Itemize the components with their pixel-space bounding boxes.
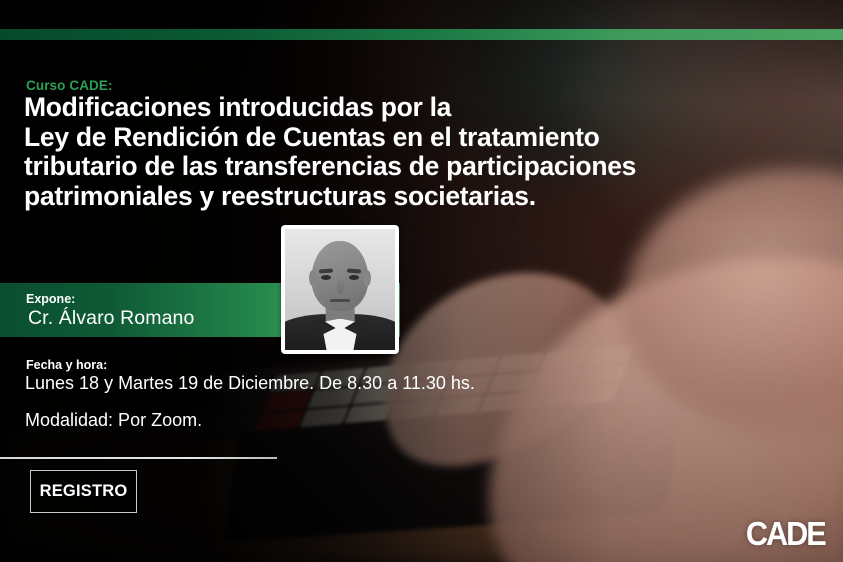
headline: Modificaciones introducidas por la Ley d… bbox=[24, 93, 724, 211]
portrait-image bbox=[285, 229, 395, 350]
top-accent-rule bbox=[0, 29, 843, 40]
speaker-portrait-photo bbox=[281, 225, 399, 354]
eyebrow-label: Curso CADE: bbox=[26, 78, 113, 93]
speaker-name: Cr. Álvaro Romano bbox=[28, 307, 194, 330]
portrait-ear-left bbox=[309, 270, 317, 286]
cade-logo-text: CADE bbox=[746, 517, 825, 550]
headline-line-3: tributario de las transferencias de part… bbox=[24, 152, 724, 182]
headline-line-4: patrimoniales y reestructuras societaria… bbox=[24, 182, 724, 212]
modality-text: Modalidad: Por Zoom. bbox=[25, 410, 202, 431]
portrait-eye-right bbox=[349, 275, 359, 280]
registro-button[interactable]: REGISTRO bbox=[30, 470, 137, 513]
headline-line-2: Ley de Rendición de Cuentas en el tratam… bbox=[24, 123, 724, 153]
speaker-label: Expone: bbox=[26, 292, 75, 306]
portrait-ear-right bbox=[363, 270, 371, 286]
schedule-label: Fecha y hora: bbox=[26, 358, 107, 372]
headline-line-1: Modificaciones introducidas por la bbox=[24, 93, 724, 123]
cta-divider-line bbox=[0, 457, 277, 459]
portrait-mouth bbox=[330, 299, 350, 302]
cade-logo: CADE bbox=[740, 516, 825, 550]
schedule-value: Lunes 18 y Martes 19 de Diciembre. De 8.… bbox=[25, 373, 475, 394]
course-promo-banner: Curso CADE: Modificaciones introducidas … bbox=[0, 0, 843, 562]
portrait-eye-left bbox=[321, 275, 331, 280]
